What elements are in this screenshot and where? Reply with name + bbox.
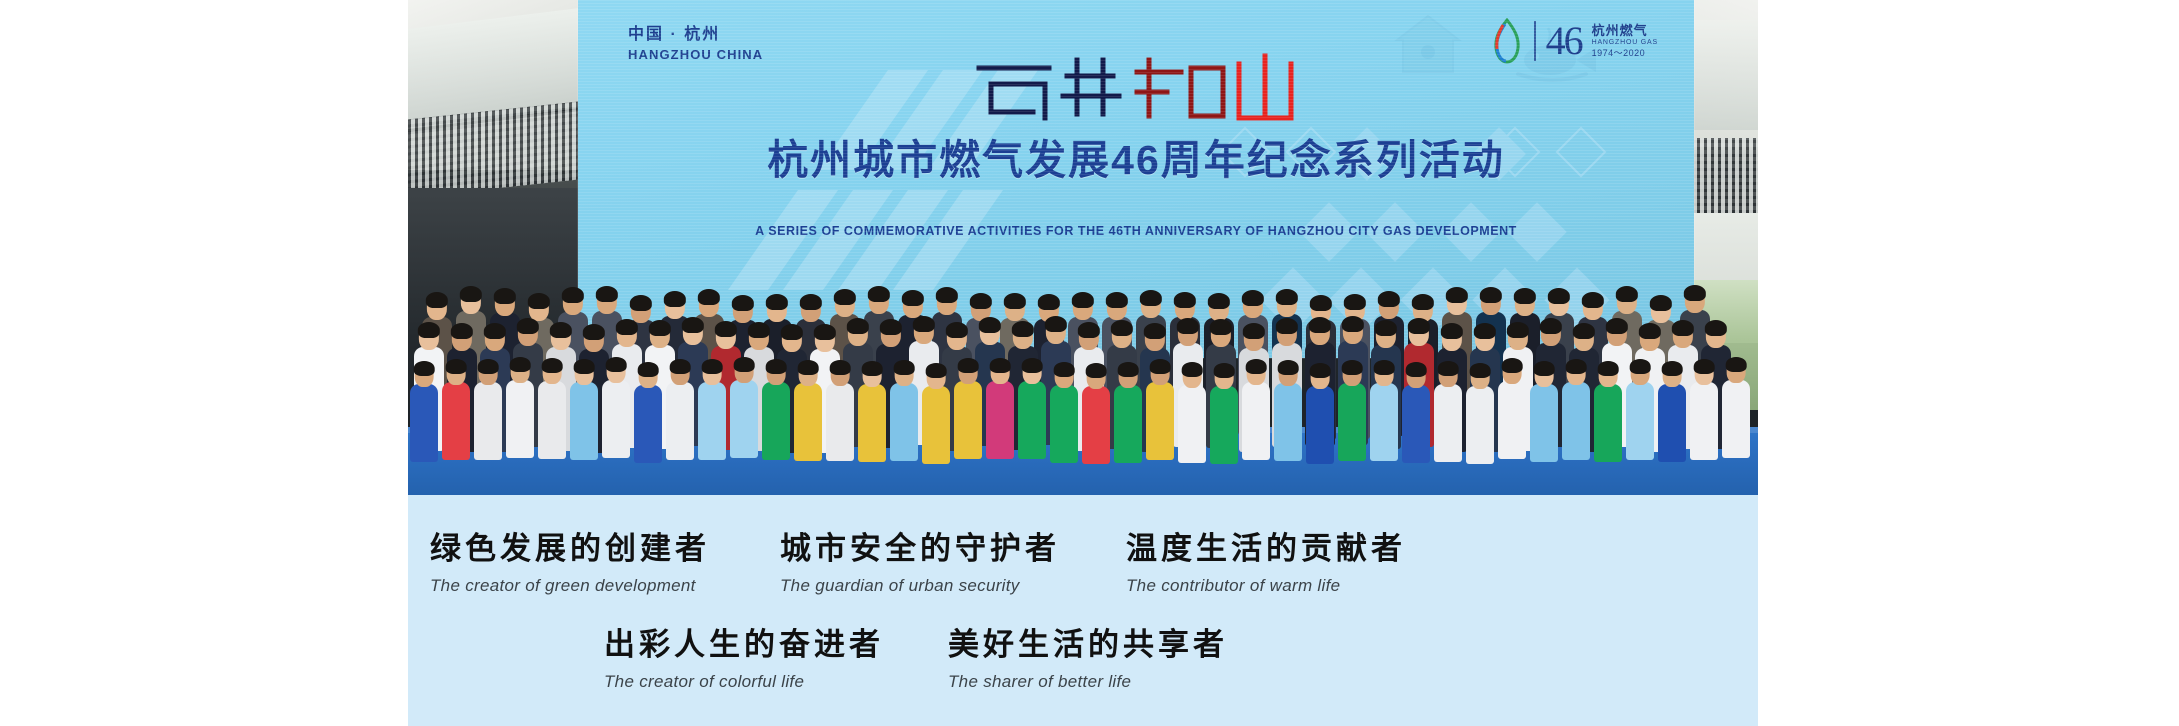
person-body <box>570 382 598 460</box>
person-body <box>922 386 950 464</box>
person-hair <box>1470 363 1491 378</box>
person-body <box>1274 383 1302 461</box>
person <box>1498 355 1526 459</box>
person-hair <box>830 360 851 375</box>
person-body <box>1466 386 1494 464</box>
person-hair <box>979 317 1001 333</box>
person-body <box>1658 384 1686 462</box>
slogan-item: 出彩人生的奋进者The creator of colorful life <box>604 619 884 692</box>
person-hair <box>781 324 803 340</box>
person <box>762 357 790 460</box>
person-hair <box>748 322 770 338</box>
person-body <box>698 382 726 460</box>
slogan-item: 温度生活的贡献者The contributor of warm life <box>1126 523 1406 596</box>
person <box>954 355 982 459</box>
person-body <box>1338 383 1366 461</box>
person <box>986 355 1014 459</box>
person-body <box>1722 380 1750 458</box>
person-body <box>1210 386 1238 464</box>
person-hair <box>1214 363 1235 378</box>
person-hair <box>958 358 979 373</box>
person-hair <box>1012 321 1034 337</box>
person-body <box>474 382 502 460</box>
person-hair <box>894 360 915 375</box>
person-hair <box>1408 318 1430 334</box>
person-hair <box>1474 323 1496 339</box>
person-hair <box>1278 360 1299 375</box>
person-hair <box>1540 318 1562 334</box>
person-hair <box>715 321 737 337</box>
person <box>890 359 918 461</box>
person-hair <box>517 318 539 334</box>
person <box>538 355 566 459</box>
person <box>1018 355 1046 459</box>
person-hair <box>414 361 435 376</box>
person-hair <box>880 319 902 335</box>
person <box>1338 359 1366 461</box>
person <box>1146 357 1174 460</box>
person-hair <box>1662 361 1683 376</box>
person-hair <box>1078 322 1100 338</box>
person <box>1306 365 1334 464</box>
person <box>922 365 950 464</box>
person-hair <box>1639 323 1661 339</box>
person-hair <box>670 359 691 374</box>
person-hair <box>542 358 563 373</box>
person-hair <box>990 358 1011 373</box>
person <box>1050 363 1078 463</box>
slogan-item: 城市安全的守护者The guardian of urban security <box>780 523 1060 596</box>
person <box>1626 357 1654 460</box>
person <box>410 361 438 462</box>
person-hair <box>1342 360 1363 375</box>
slogan-text-cn: 城市安全的守护者 <box>780 523 1060 568</box>
person-hair <box>1022 358 1043 373</box>
person <box>1690 357 1718 460</box>
person-body <box>1018 381 1046 459</box>
person-hair <box>574 359 595 374</box>
person-body <box>1626 382 1654 460</box>
person-body <box>794 383 822 461</box>
person <box>1722 353 1750 458</box>
person-body <box>506 380 534 458</box>
person-hair <box>1694 359 1715 374</box>
person-hair <box>616 319 638 335</box>
person-hair <box>798 360 819 375</box>
person <box>1402 363 1430 463</box>
person-hair <box>702 359 723 374</box>
person <box>602 353 630 458</box>
person-body <box>730 380 758 458</box>
person-hair <box>682 317 704 333</box>
slogan-text-cn: 绿色发展的创建者 <box>430 523 710 568</box>
person <box>1082 365 1110 464</box>
brand-name-en: HANGZHOU GAS <box>1592 39 1658 47</box>
person-body <box>410 384 438 462</box>
slogan-section: 绿色发展的创建者The creator of green development… <box>408 495 1758 726</box>
slogan-text-cn: 出彩人生的奋进者 <box>604 619 884 664</box>
person-hair <box>1507 322 1529 338</box>
person-body <box>1370 383 1398 461</box>
slogan-text-en: The creator of colorful life <box>604 672 884 692</box>
person-hair <box>1210 319 1232 335</box>
slogan-text-en: The guardian of urban security <box>780 576 1060 596</box>
person-hair <box>649 320 671 336</box>
person-hair <box>1309 317 1331 333</box>
person <box>474 357 502 460</box>
person-hair <box>1310 363 1331 378</box>
person-body <box>1146 382 1174 460</box>
person-hair <box>1438 361 1459 376</box>
person <box>442 357 470 460</box>
person-hair <box>550 322 572 338</box>
person-body <box>858 384 886 462</box>
artistic-title <box>578 52 1694 124</box>
slogan-text-en: The sharer of better life <box>948 672 1228 692</box>
person <box>1274 359 1302 461</box>
person-hair <box>1054 362 1075 377</box>
person-hair <box>926 363 947 378</box>
person-hair <box>1573 323 1595 339</box>
person-hair <box>451 323 473 339</box>
person-body <box>1242 382 1270 460</box>
person-hair <box>1182 362 1203 377</box>
person-hair <box>1406 362 1427 377</box>
person <box>1658 361 1686 462</box>
person-body <box>1402 385 1430 463</box>
person-body <box>890 383 918 461</box>
person-hair <box>1045 316 1067 332</box>
person-hair <box>1598 361 1619 376</box>
brand-name-cn: 杭州燃气 <box>1592 24 1658 39</box>
artistic-title-glyphs <box>971 52 1301 124</box>
person <box>1178 363 1206 463</box>
slogan-item: 美好生活的共享者The sharer of better life <box>948 619 1228 692</box>
person-body <box>1082 386 1110 464</box>
person-hair <box>418 322 440 338</box>
crowd-of-attendees <box>408 165 1758 495</box>
person-hair <box>638 362 659 377</box>
poster-page: 中国 · 杭州 HANGZHOU CHINA 46 杭州燃气 HANGZHOU … <box>0 0 2179 726</box>
person-body <box>538 381 566 459</box>
person-body <box>602 380 630 458</box>
person-hair <box>1441 323 1463 339</box>
person-body <box>1690 382 1718 460</box>
person-hair <box>862 361 883 376</box>
person-hair <box>1118 362 1139 377</box>
person-hair <box>1374 360 1395 375</box>
person-hair <box>814 324 836 340</box>
person-hair <box>606 357 627 372</box>
person-hair <box>913 316 935 332</box>
person-body <box>826 383 854 461</box>
person-hair <box>484 323 506 339</box>
person-body <box>1498 381 1526 459</box>
person-hair <box>1150 359 1171 374</box>
person-hair <box>1246 359 1267 374</box>
person-hair <box>1086 363 1107 378</box>
person-hair <box>1243 323 1265 339</box>
person-body <box>1050 385 1078 463</box>
person-hair <box>446 359 467 374</box>
person-hair <box>1342 316 1364 332</box>
person-body <box>1530 384 1558 462</box>
person-body <box>1434 384 1462 462</box>
person <box>1370 359 1398 461</box>
person-hair <box>1177 318 1199 334</box>
person-hair <box>734 357 755 372</box>
person-hair <box>766 359 787 374</box>
person-body <box>1306 386 1334 464</box>
person <box>1114 363 1142 463</box>
person-hair <box>946 322 968 338</box>
person <box>1562 357 1590 460</box>
person-body <box>1114 385 1142 463</box>
person <box>826 359 854 461</box>
content-column: 中国 · 杭州 HANGZHOU CHINA 46 杭州燃气 HANGZHOU … <box>408 0 1758 726</box>
slogan-text-cn: 温度生活的贡献者 <box>1126 523 1406 568</box>
person-body <box>1178 385 1206 463</box>
group-photo: 中国 · 杭州 HANGZHOU CHINA 46 杭州燃气 HANGZHOU … <box>408 0 1758 495</box>
person-hair <box>478 359 499 374</box>
person <box>506 353 534 458</box>
person-body <box>1594 384 1622 462</box>
person <box>858 361 886 462</box>
person-body <box>666 382 694 460</box>
slogan-text-en: The creator of green development <box>430 576 710 596</box>
slogan-text-cn: 美好生活的共享者 <box>948 619 1228 664</box>
crowd-row-front <box>408 341 1758 461</box>
person <box>794 359 822 461</box>
person-hair <box>1672 320 1694 336</box>
person-body <box>954 381 982 459</box>
person-hair <box>1705 320 1727 336</box>
person <box>698 357 726 460</box>
person <box>570 357 598 460</box>
person-hair <box>1726 357 1747 372</box>
location-label-cn: 中国 · 杭州 <box>628 24 763 46</box>
person <box>730 353 758 458</box>
person-body <box>986 381 1014 459</box>
person-hair <box>1606 318 1628 334</box>
person-body <box>762 382 790 460</box>
person-hair <box>1630 359 1651 374</box>
person-hair <box>847 318 869 334</box>
person <box>1242 357 1270 460</box>
person-hair <box>1566 359 1587 374</box>
person-hair <box>1502 358 1523 373</box>
slogan-item: 绿色发展的创建者The creator of green development <box>430 523 710 596</box>
person <box>1434 361 1462 462</box>
person-hair <box>1111 320 1133 336</box>
person-hair <box>1276 318 1298 334</box>
person-body <box>442 382 470 460</box>
person <box>1210 365 1238 464</box>
person-hair <box>1534 361 1555 376</box>
person-hair <box>1144 323 1166 339</box>
person <box>1466 365 1494 464</box>
person <box>666 357 694 460</box>
person-hair <box>583 324 605 340</box>
slogan-text-en: The contributor of warm life <box>1126 576 1406 596</box>
person-hair <box>1375 320 1397 336</box>
person <box>634 363 662 463</box>
person-body <box>634 385 662 463</box>
person <box>1530 361 1558 462</box>
person <box>1594 361 1622 462</box>
person-hair <box>510 357 531 372</box>
person-body <box>1562 382 1590 460</box>
